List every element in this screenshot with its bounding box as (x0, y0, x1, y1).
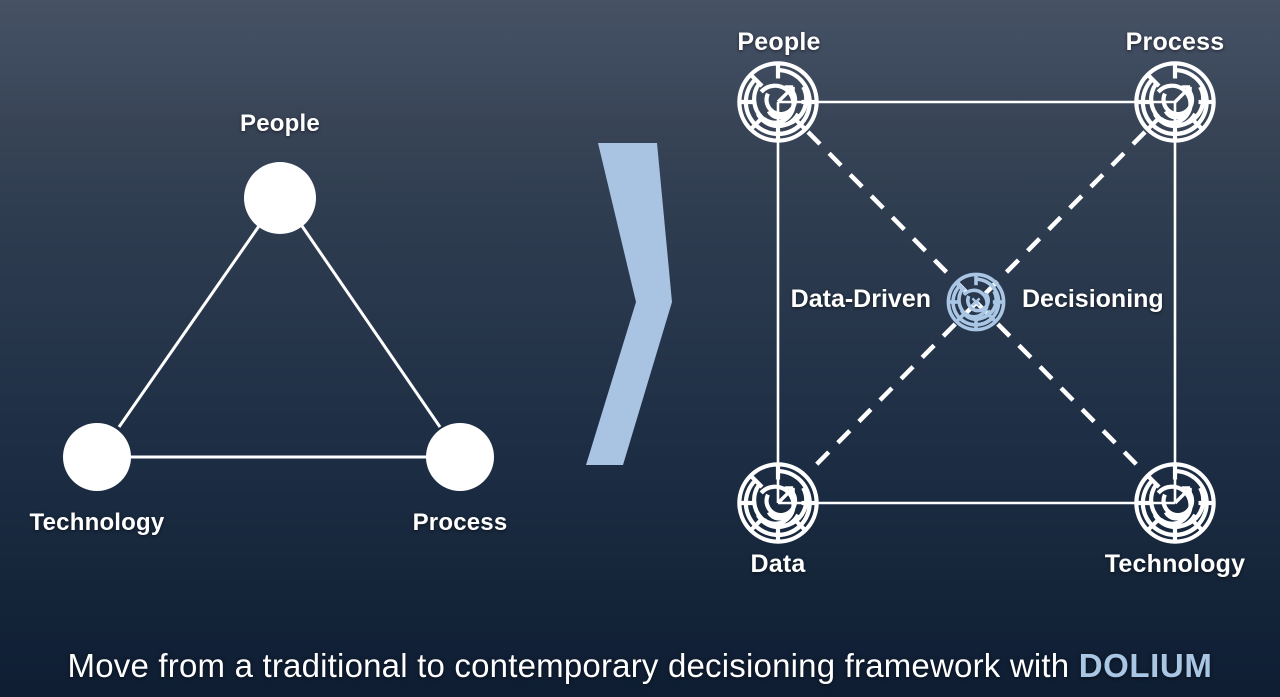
maze-icon-people[interactable] (739, 63, 816, 140)
edge-people-process (302, 226, 440, 427)
maze-icon-center[interactable] (948, 274, 1003, 329)
maze-icon-data[interactable] (739, 464, 816, 541)
caption-text: Move from a traditional to contemporary … (68, 647, 1070, 684)
contemporary-label-people: People (737, 28, 820, 57)
maze-icon-technology[interactable] (1136, 464, 1213, 541)
traditional-nodes (63, 162, 494, 491)
slide-caption: Move from a traditional to contemporary … (0, 647, 1280, 685)
contemporary-label-technology: Technology (1105, 550, 1245, 579)
center-label-decisioning: Decisioning (1022, 285, 1164, 314)
contemporary-label-process: Process (1126, 28, 1225, 57)
node-people-circle[interactable] (244, 162, 316, 234)
traditional-label-people: People (240, 110, 320, 138)
traditional-label-technology: Technology (30, 509, 165, 537)
chevron-right-arrow (586, 143, 672, 465)
contemporary-label-data: Data (751, 550, 806, 579)
node-technology-circle[interactable] (63, 423, 131, 491)
diagram-svg-layer (0, 0, 1280, 697)
maze-icon-process[interactable] (1136, 63, 1213, 140)
traditional-edges (119, 226, 440, 457)
center-label-data-driven: Data-Driven (791, 285, 931, 314)
slide-canvas: People Technology Process People Process… (0, 0, 1280, 697)
traditional-label-process: Process (413, 509, 508, 537)
brand-name: DOLIUM (1079, 647, 1213, 684)
edge-people-technology (119, 226, 259, 427)
node-process-circle[interactable] (426, 423, 494, 491)
